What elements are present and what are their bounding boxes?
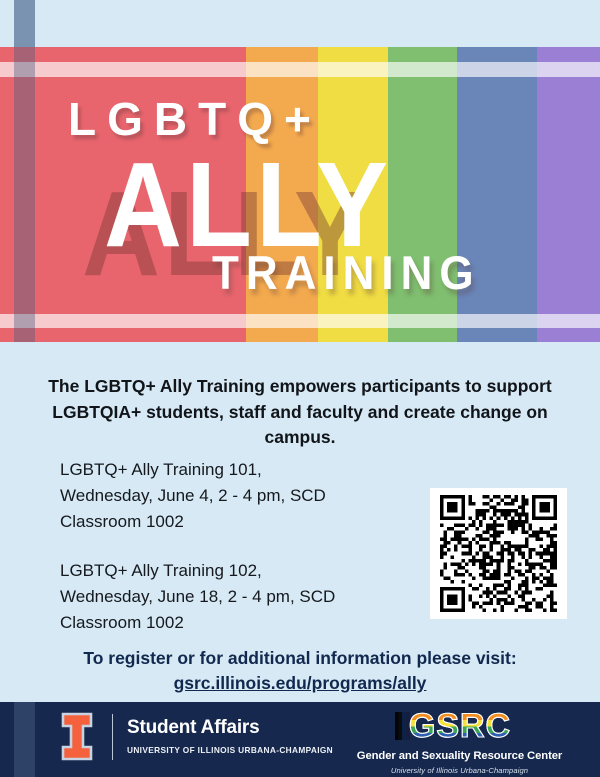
student-affairs-text: Student Affairs UNIVERSITY OF ILLINOIS U… (127, 718, 333, 755)
gsrc-university: University of Illinois Urbana-Champaign (352, 766, 567, 775)
register-callout: To register or for additional informatio… (20, 646, 580, 696)
session-item: LGBTQ+ Ally Training 101, Wednesday, Jun… (60, 457, 410, 534)
session-location: Classroom 1002 (60, 610, 410, 636)
logo-divider (112, 714, 113, 760)
block-i-icon (60, 712, 94, 761)
student-affairs-logo: Student Affairs UNIVERSITY OF ILLINOIS U… (60, 712, 333, 761)
gsrc-wordmark-icon: GSRC GSRC (352, 708, 567, 744)
hero-banner: LGBTQ+ ALLY TRAINING (0, 0, 600, 342)
lede-paragraph: The LGBTQ+ Ally Training empowers partic… (34, 374, 566, 451)
headline-training: TRAINING (212, 250, 481, 298)
session-title: LGBTQ+ Ally Training 102, (60, 558, 410, 584)
session-datetime: Wednesday, June 18, 2 - 4 pm, SCD (60, 584, 410, 610)
svg-text:GSRC: GSRC (408, 708, 510, 744)
student-affairs-subtitle: UNIVERSITY OF ILLINOIS URBANA-CHAMPAIGN (127, 745, 333, 755)
hero-headline-group: LGBTQ+ ALLY TRAINING (0, 0, 600, 342)
poster: LGBTQ+ ALLY TRAINING The LGBTQ+ Ally Tra… (0, 0, 600, 777)
body-content: The LGBTQ+ Ally Training empowers partic… (0, 342, 600, 702)
session-item: LGBTQ+ Ally Training 102, Wednesday, Jun… (60, 558, 410, 635)
session-title: LGBTQ+ Ally Training 101, (60, 457, 410, 483)
session-location: Classroom 1002 (60, 509, 410, 535)
footer-overlay-bar (14, 702, 35, 777)
session-datetime: Wednesday, June 4, 2 - 4 pm, SCD (60, 483, 410, 509)
gsrc-name: Gender and Sexuality Resource Center (352, 750, 567, 762)
register-url[interactable]: gsrc.illinois.edu/programs/ally (20, 671, 580, 696)
headline-lgbtq: LGBTQ+ (68, 96, 322, 142)
footer-bar: Student Affairs UNIVERSITY OF ILLINOIS U… (0, 702, 600, 777)
student-affairs-title: Student Affairs (127, 717, 259, 738)
register-prompt: To register or for additional informatio… (83, 648, 516, 668)
qr-code[interactable] (430, 488, 567, 619)
gsrc-logo: GSRC GSRC Gender and Sexuality Resource … (352, 708, 567, 775)
session-list: LGBTQ+ Ally Training 101, Wednesday, Jun… (60, 457, 410, 636)
